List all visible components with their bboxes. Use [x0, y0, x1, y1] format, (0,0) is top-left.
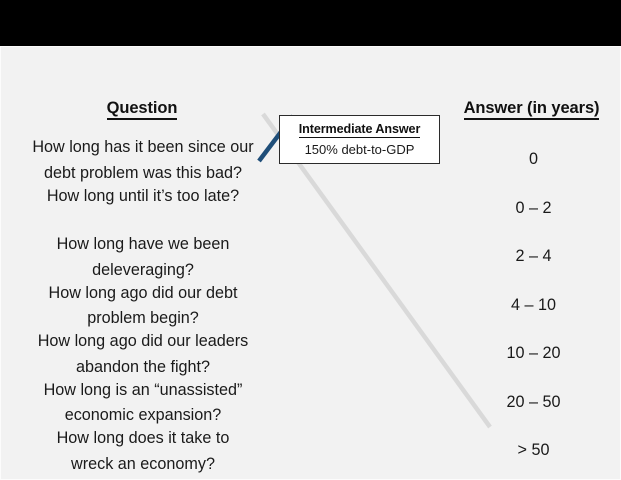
question-row: How long ago did our debt problem begin? [9, 281, 277, 330]
question-line: How long have we been [57, 232, 230, 258]
intermediate-answer-callout[interactable]: Intermediate Answer 150% debt-to-GDP [279, 115, 440, 164]
answer-row: 2 – 4 [445, 244, 621, 293]
answer-value: 0 – 2 [515, 196, 551, 222]
answer-row: 10 – 20 [445, 341, 621, 390]
answer-value: 0 [529, 147, 538, 173]
letterbox-bar-top [0, 0, 621, 46]
question-line: deleveraging? [92, 258, 194, 284]
answer-value: 4 – 10 [511, 293, 556, 319]
question-line: wreck an economy? [71, 452, 215, 478]
slide-canvas: Question Answer (in years) How long has … [0, 46, 621, 480]
question-row: How long until it’s too late? [9, 184, 277, 233]
answer-row: 4 – 10 [445, 293, 621, 342]
answer-value: 10 – 20 [506, 341, 560, 367]
question-column-header: Question [13, 99, 271, 118]
question-line: How long ago did our leaders [38, 329, 249, 355]
answer-value: > 50 [518, 438, 550, 464]
question-list: How long has it been since our debt prob… [9, 135, 277, 475]
question-line: How long until it’s too late? [47, 184, 239, 210]
answer-row: 0 – 2 [445, 196, 621, 245]
question-row: How long have we been deleveraging? [9, 232, 277, 281]
question-line: How long does it take to [57, 426, 230, 452]
question-row: How long is an “unassisted” economic exp… [9, 378, 277, 427]
question-line: How long has it been since our [32, 135, 253, 161]
answer-column-header: Answer (in years) [441, 99, 621, 118]
intermediate-answer-value: 150% debt-to-GDP [305, 140, 415, 159]
answer-row: 20 – 50 [445, 390, 621, 439]
answer-row: > 50 [445, 438, 621, 480]
question-row: How long ago did our leaders abandon the… [9, 329, 277, 378]
answer-row: 0 [445, 147, 621, 196]
answer-value: 20 – 50 [506, 390, 560, 416]
question-line: abandon the fight? [76, 355, 210, 381]
question-line: economic expansion? [65, 403, 222, 429]
question-line: How long is an “unassisted” [44, 378, 243, 404]
answer-list: 0 0 – 2 2 – 4 4 – 10 10 – 20 20 – 50 > 5… [445, 147, 621, 480]
question-row: How long does it take to wreck an econom… [9, 426, 277, 475]
answer-value: 2 – 4 [515, 244, 551, 270]
question-line: problem begin? [87, 306, 199, 332]
intermediate-answer-title: Intermediate Answer [299, 121, 421, 138]
question-column-header-label: Question [107, 99, 178, 120]
answer-column-header-label: Answer (in years) [464, 99, 600, 120]
question-line: How long ago did our debt [49, 281, 238, 307]
question-row: How long has it been since our debt prob… [9, 135, 277, 184]
question-line: debt problem was this bad? [44, 161, 242, 187]
